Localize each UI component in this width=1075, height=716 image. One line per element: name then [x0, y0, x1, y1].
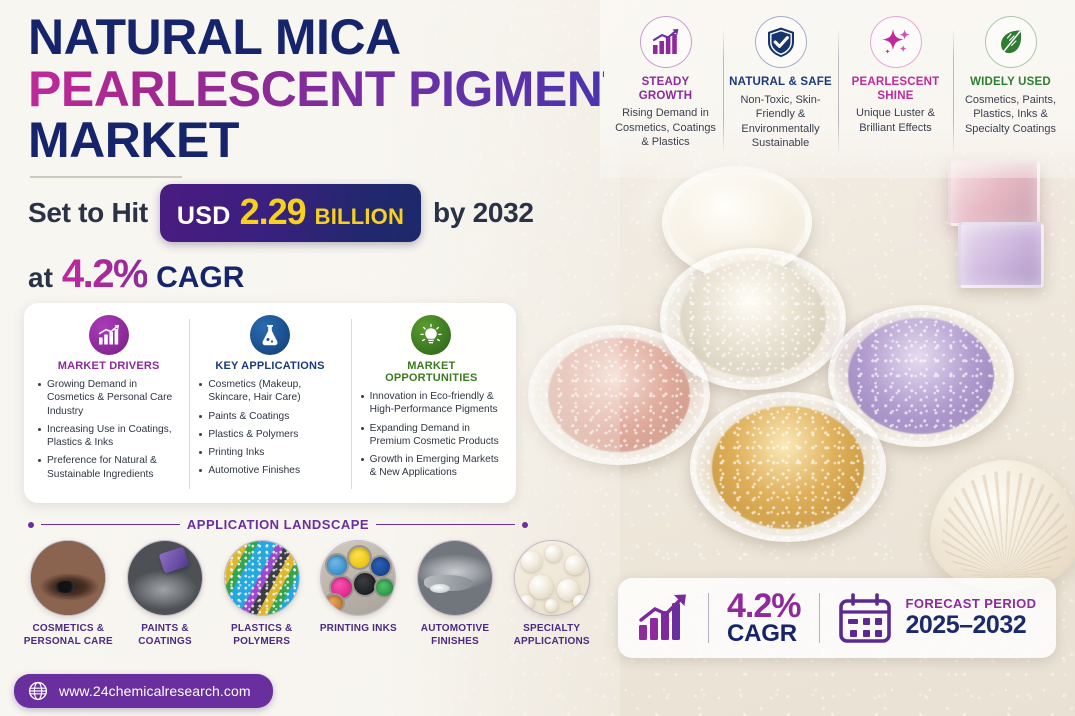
feature-icon-circle — [870, 16, 922, 68]
feature-desc: Cosmetics, Paints, Plastics, Inks & Spec… — [959, 93, 1062, 137]
market-value-unit: BILLION — [315, 204, 404, 230]
feature-title: NATURAL & SAFE — [729, 76, 832, 90]
column-icon-circle — [250, 315, 290, 355]
insights-card: MARKET DRIVERS Growing Demand in Cosmeti… — [24, 303, 516, 503]
set-to-hit-label: Set to Hit — [28, 197, 148, 229]
plastic-granules-photo — [224, 540, 300, 616]
cagr-percent: 4.2% — [62, 252, 147, 297]
eye-makeup-photo — [30, 540, 106, 616]
cagr-group: 4.2% CAGR — [709, 590, 819, 646]
column-icon-circle — [411, 315, 451, 355]
list-item: Printing Inks — [198, 446, 341, 459]
website-url-pill[interactable]: www.24chemicalresearch.com — [14, 674, 273, 708]
column-list: Cosmetics (Makeup, Skincare, Hair Care) … — [198, 378, 341, 478]
title-divider — [30, 176, 182, 178]
forecast-label: FORECAST PERIOD — [906, 596, 1037, 611]
title-line-2: PEARLESCENT PIGMENT — [28, 66, 604, 114]
list-item: Growth in Emerging Markets & New Applica… — [360, 453, 503, 480]
title-line-1: NATURAL MICA — [28, 14, 604, 62]
app-label: COSMETICS & PERSONAL CARE — [20, 623, 117, 649]
section-label: APPLICATION LANDSCAPE — [187, 517, 369, 532]
paint-brush-photo — [127, 540, 203, 616]
cagr-row: at 4.2% CAGR — [28, 252, 604, 297]
list-item: Growing Demand in Cosmetics & Personal C… — [37, 378, 180, 418]
column-list: Growing Demand in Cosmetics & Personal C… — [37, 378, 180, 481]
globe-icon — [28, 681, 48, 701]
feature-desc: Rising Demand in Cosmetics, Coatings & P… — [614, 106, 717, 150]
app-label: PAINTS & COATINGS — [117, 623, 214, 649]
cagr-label: CAGR — [156, 261, 244, 295]
market-value-badge: USD 2.29 BILLION — [160, 184, 421, 242]
feature-icon-circle — [640, 16, 692, 68]
shield-check-icon — [766, 26, 796, 58]
list-item: Plastics & Polymers — [198, 428, 341, 441]
list-item: Automotive Finishes — [198, 464, 341, 477]
feature-title: WIDELY USED — [959, 76, 1062, 90]
feature-desc: Unique Luster & Brilliant Effects — [844, 106, 947, 135]
column-icon-circle — [89, 315, 129, 355]
forecast-group: FORECAST PERIOD 2025–2032 — [820, 592, 1055, 644]
market-value-number: 2.29 — [240, 191, 306, 233]
currency-label: USD — [177, 202, 231, 231]
lightbulb-icon — [419, 323, 443, 347]
column-key-applications: KEY APPLICATIONS Cosmetics (Makeup, Skin… — [189, 313, 350, 495]
list-item: Expanding Demand in Premium Cosmetic Pro… — [360, 422, 503, 449]
feature-badges: STEADY GROWTH Rising Demand in Cosmetics… — [608, 16, 1068, 151]
car-body-photo — [417, 540, 493, 616]
pearls-photo — [514, 540, 590, 616]
target-year-label: by 2032 — [433, 197, 534, 229]
header-line-left — [41, 524, 180, 526]
app-item-specialty[interactable]: SPECIALTY APPLICATIONS — [503, 540, 600, 649]
flask-icon — [259, 323, 281, 347]
app-label: SPECIALTY APPLICATIONS — [503, 623, 600, 649]
column-title: MARKET OPPORTUNITIES — [360, 360, 503, 384]
application-landscape-header: APPLICATION LANDSCAPE — [28, 517, 528, 532]
feature-title: PEARLESCENT SHINE — [844, 76, 947, 103]
application-thumbnails: COSMETICS & PERSONAL CARE PAINTS & COATI… — [20, 540, 600, 649]
list-item: Preference for Natural & Sustainable Ing… — [37, 454, 180, 481]
sparkle-icon — [880, 27, 912, 57]
gold-pigment-bowl-photo — [690, 392, 886, 542]
app-item-plastics[interactable]: PLASTICS & POLYMERS — [213, 540, 310, 649]
leaf-icon — [996, 27, 1026, 57]
feature-pearlescent-shine: PEARLESCENT SHINE Unique Luster & Brilli… — [838, 16, 953, 151]
feature-natural-safe: NATURAL & SAFE Non-Toxic, Skin-Friendly … — [723, 16, 838, 151]
forecast-period: 2025–2032 — [906, 611, 1037, 640]
header-dot-left — [28, 522, 34, 528]
header-line-right — [376, 524, 515, 526]
column-market-opportunities: MARKET OPPORTUNITIES Innovation in Eco-f… — [351, 313, 512, 495]
column-market-drivers: MARKET DRIVERS Growing Demand in Cosmeti… — [28, 313, 189, 495]
stat-panel: 4.2% CAGR FORECAST PERIOD 2025–2032 — [618, 578, 1056, 658]
at-label: at — [28, 262, 53, 294]
cagr-icon-group — [618, 593, 708, 643]
bar-chart-growth-icon — [97, 324, 121, 346]
cagr-label: CAGR — [727, 622, 801, 646]
website-url-text: www.24chemicalresearch.com — [59, 683, 251, 699]
cagr-value: 4.2% — [727, 590, 801, 622]
list-item: Increasing Use in Coatings, Plastics & I… — [37, 423, 180, 450]
title-line-3: MARKET — [28, 117, 604, 165]
infographic-poster: NATURAL MICA PEARLESCENT PIGMENT MARKET … — [0, 0, 1075, 716]
feature-desc: Non-Toxic, Skin-Friendly & Environmental… — [729, 93, 832, 151]
column-list: Innovation in Eco-friendly & High-Perfor… — [360, 390, 503, 480]
app-label: PLASTICS & POLYMERS — [213, 623, 310, 649]
app-label: PRINTING INKS — [310, 623, 407, 636]
ink-cans-photo — [320, 540, 396, 616]
feature-steady-growth: STEADY GROWTH Rising Demand in Cosmetics… — [608, 16, 723, 151]
column-title: MARKET DRIVERS — [37, 360, 180, 372]
feature-widely-used: WIDELY USED Cosmetics, Paints, Plastics,… — [953, 16, 1068, 151]
header-dot-right — [522, 522, 528, 528]
list-item: Innovation in Eco-friendly & High-Perfor… — [360, 390, 503, 417]
feature-icon-circle — [985, 16, 1037, 68]
lavender-compact-photo — [958, 222, 1044, 288]
bar-chart-growth-icon — [651, 28, 681, 56]
column-title: KEY APPLICATIONS — [198, 360, 341, 372]
bar-chart-growth-icon — [636, 593, 690, 643]
list-item: Paints & Coatings — [198, 410, 341, 423]
market-value-row: Set to Hit USD 2.29 BILLION by 2032 — [28, 184, 604, 242]
calendar-icon — [838, 592, 892, 644]
app-item-paints[interactable]: PAINTS & COATINGS — [117, 540, 214, 649]
feature-title: STEADY GROWTH — [614, 76, 717, 103]
app-label: AUTOMOTIVE FINISHES — [407, 623, 504, 649]
feature-icon-circle — [755, 16, 807, 68]
app-item-printing-inks[interactable]: PRINTING INKS — [310, 540, 407, 649]
list-item: Cosmetics (Makeup, Skincare, Hair Care) — [198, 378, 341, 405]
app-item-cosmetics[interactable]: COSMETICS & PERSONAL CARE — [20, 540, 117, 649]
headline-block: NATURAL MICA PEARLESCENT PIGMENT MARKET … — [28, 14, 604, 297]
app-item-automotive[interactable]: AUTOMOTIVE FINISHES — [407, 540, 504, 649]
